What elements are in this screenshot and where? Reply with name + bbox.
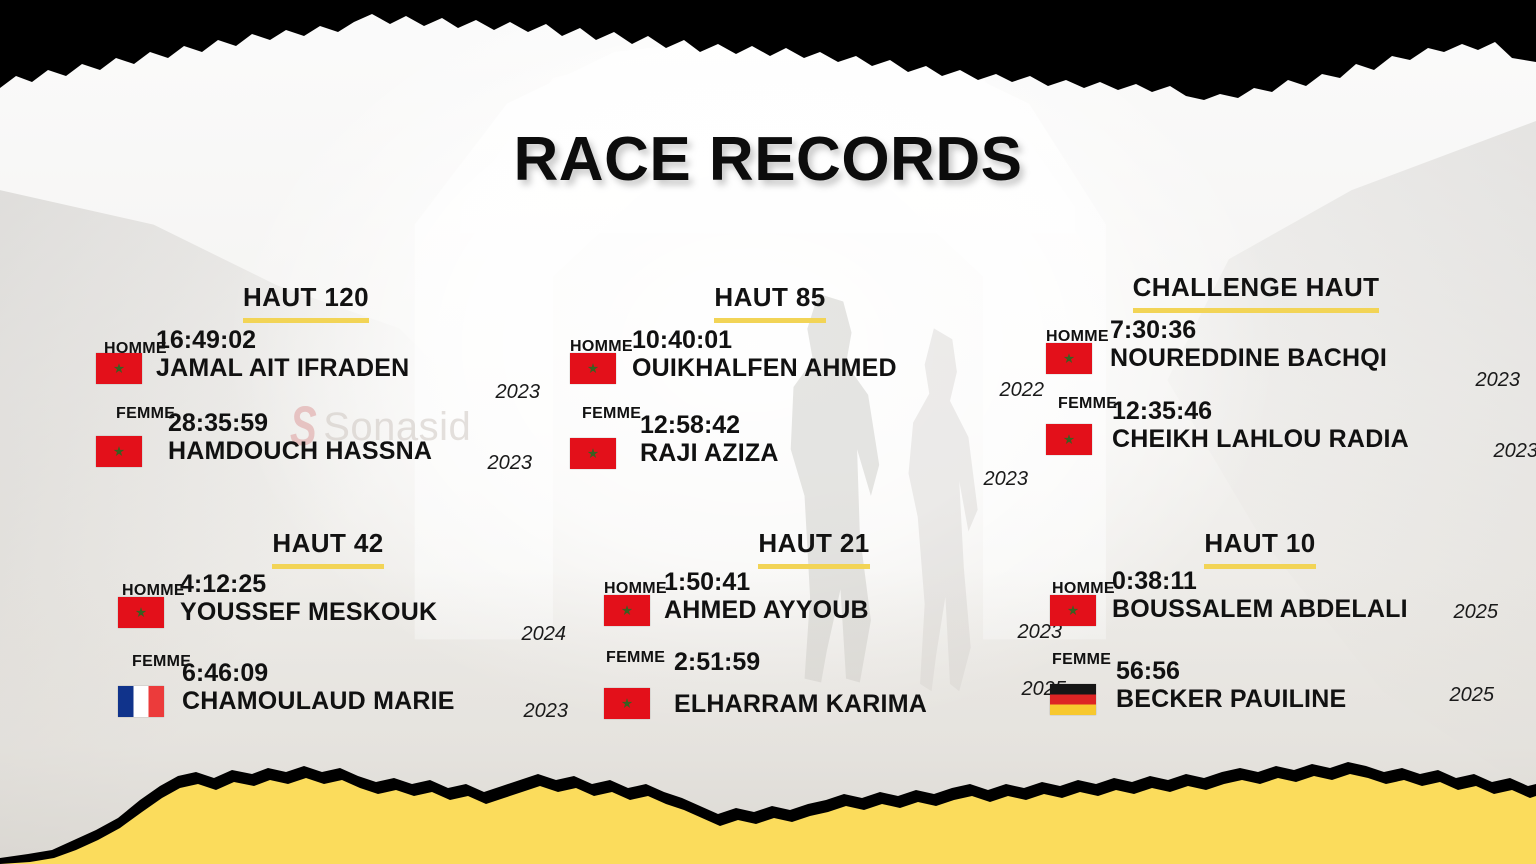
record-card-haut-85: HAUT 85 HOMME 10:40:01 OUIKHALFEN AHMED … [570,282,970,469]
record-row-men: HOMME 16:49:02 JAMAL AIT IFRADEN 2023 [96,341,516,384]
record-year: 2022 [1000,379,1045,402]
record-year: 2024 [522,623,567,646]
flag-icon-morocco [1046,424,1092,455]
flag-icon-morocco [118,597,164,628]
record-athlete: OUIKHALFEN AHMED [632,354,897,383]
flag-wrap [96,353,142,384]
record-year: 2023 [1476,369,1521,392]
flag-wrap [118,686,164,717]
record-text: 56:56 BECKER PAUILINE [1116,686,1346,714]
record-year: 2023 [1494,440,1536,463]
record-time: 7:30:36 [1110,317,1387,344]
flag-icon-germany [1050,684,1096,715]
race-records-poster: SSonasid RACE RECORDS HAUT 120 HOMME 16:… [0,0,1536,864]
record-entry: 6:46:09 CHAMOULAUD MARIE [118,686,538,717]
record-text: 6:46:09 CHAMOULAUD MARIE [182,688,455,716]
flag-wrap [96,436,142,467]
record-text: 1:50:41 AHMED AYYOUB [664,597,869,625]
category-title: HAUT 120 [243,282,369,323]
record-card-haut-120: HAUT 120 HOMME 16:49:02 JAMAL AIT IFRADE… [96,282,516,467]
category-title: HAUT 21 [758,528,869,569]
record-athlete: AHMED AYYOUB [664,596,869,625]
flag-icon-morocco [96,353,142,384]
record-time: 12:35:46 [1112,398,1409,425]
record-text: 12:58:42 RAJI AZIZA [640,440,779,468]
flag-wrap [1050,684,1096,715]
category-heading-wrap: HAUT 21 [604,528,1024,569]
record-row-men: HOMME 0:38:11 BOUSSALEM ABDELALI 2025 [1050,581,1470,626]
record-text: 2:51:59 ELHARRAM KARIMA [674,689,927,719]
bottom-mountain-edge [0,754,1536,864]
record-year: 2023 [496,381,541,404]
record-athlete: JAMAL AIT IFRADEN [156,354,409,383]
record-year: 2023 [524,700,569,723]
record-entry: 16:49:02 JAMAL AIT IFRADEN [96,353,516,384]
record-entry: 2:51:59 ELHARRAM KARIMA [604,688,1024,719]
record-text: 28:35:59 HAMDOUCH HASSNA [168,438,432,466]
flag-wrap [604,688,650,719]
record-entry: 28:35:59 HAMDOUCH HASSNA [96,436,516,467]
flag-wrap [1050,595,1096,626]
flag-icon-morocco [96,436,142,467]
record-time: 2:51:59 [674,649,927,676]
record-entry: 12:58:42 RAJI AZIZA [570,438,970,469]
record-athlete: CHAMOULAUD MARIE [182,687,455,716]
record-row-women: FEMME 56:56 BECKER PAUILINE 2025 [1050,652,1470,715]
record-athlete: HAMDOUCH HASSNA [168,437,432,466]
flag-icon-france [118,686,164,717]
record-athlete: YOUSSEF MESKOUK [180,598,437,627]
record-athlete: ELHARRAM KARIMA [674,690,927,719]
flag-wrap [570,438,616,469]
category-title: HAUT 10 [1204,528,1315,569]
flag-wrap [1046,343,1092,374]
category-heading-wrap: HAUT 120 [96,282,516,323]
record-card-challenge-haut: CHALLENGE HAUT HOMME 7:30:36 NOUREDDINE … [1046,272,1466,455]
flag-icon-morocco [570,438,616,469]
category-heading-wrap: CHALLENGE HAUT [1046,272,1466,313]
record-time: 28:35:59 [168,410,432,437]
category-heading-wrap: HAUT 85 [570,282,970,323]
record-entry: 12:35:46 CHEIKH LAHLOU RADIA [1046,424,1466,455]
category-heading-wrap: HAUT 10 [1050,528,1470,569]
category-title: HAUT 85 [714,282,825,323]
flag-icon-morocco [570,353,616,384]
record-entry: 10:40:01 OUIKHALFEN AHMED [570,353,970,384]
record-row-men: HOMME 10:40:01 OUIKHALFEN AHMED 2022 [570,339,970,384]
record-row-women: FEMME 2:51:59 ELHARRAM KARIMA 2025 [604,650,1024,719]
record-entry: 0:38:11 BOUSSALEM ABDELALI [1050,595,1470,626]
record-entry: 7:30:36 NOUREDDINE BACHQI [1046,343,1466,374]
record-row-men: HOMME 7:30:36 NOUREDDINE BACHQI 2023 [1046,329,1466,374]
record-card-haut-10: HAUT 10 HOMME 0:38:11 BOUSSALEM ABDELALI… [1050,528,1470,715]
record-text: 4:12:25 YOUSSEF MESKOUK [180,599,437,627]
record-athlete: NOUREDDINE BACHQI [1110,344,1387,373]
record-text: 10:40:01 OUIKHALFEN AHMED [632,355,897,383]
record-year: 2025 [1450,684,1495,707]
record-year: 2023 [488,452,533,475]
record-time: 12:58:42 [640,412,779,439]
record-athlete: CHEIKH LAHLOU RADIA [1112,425,1409,454]
record-time: 16:49:02 [156,327,409,354]
category-title: HAUT 42 [272,528,383,569]
flag-wrap [1046,424,1092,455]
record-athlete: BECKER PAUILINE [1116,685,1346,714]
record-text: 12:35:46 CHEIKH LAHLOU RADIA [1112,426,1409,454]
record-text: 7:30:36 NOUREDDINE BACHQI [1110,345,1387,373]
record-row-women: FEMME 6:46:09 CHAMOULAUD MARIE 2023 [118,654,538,717]
record-year: 2023 [984,468,1029,491]
record-time: 1:50:41 [664,569,869,596]
record-time: 0:38:11 [1112,568,1408,595]
record-time: 6:46:09 [182,660,455,687]
record-athlete: BOUSSALEM ABDELALI [1112,595,1408,624]
category-heading-wrap: HAUT 42 [118,528,538,569]
record-entry: 56:56 BECKER PAUILINE [1050,684,1470,715]
record-row-women: FEMME 12:58:42 RAJI AZIZA 2023 [570,406,970,469]
top-torn-edge [0,0,1536,112]
record-text: 16:49:02 JAMAL AIT IFRADEN [156,355,409,383]
record-time: 10:40:01 [632,327,897,354]
record-card-haut-42: HAUT 42 HOMME 4:12:25 YOUSSEF MESKOUK 20… [118,528,538,717]
flag-icon-morocco [604,688,650,719]
record-row-women: FEMME 12:35:46 CHEIKH LAHLOU RADIA 2023 [1046,396,1466,455]
record-time: 4:12:25 [180,571,437,598]
record-row-women: FEMME 28:35:59 HAMDOUCH HASSNA 2023 [96,406,516,467]
record-row-men: HOMME 4:12:25 YOUSSEF MESKOUK 2024 [118,583,538,628]
record-entry: 4:12:25 YOUSSEF MESKOUK [118,597,538,628]
flag-icon-morocco [1046,343,1092,374]
record-year: 2025 [1454,601,1499,624]
flag-wrap [570,353,616,384]
record-athlete: RAJI AZIZA [640,439,779,468]
record-time: 56:56 [1116,658,1346,685]
flag-wrap [118,597,164,628]
flag-wrap [604,595,650,626]
record-card-haut-21: HAUT 21 HOMME 1:50:41 AHMED AYYOUB 2023 … [604,528,1024,719]
record-text: 0:38:11 BOUSSALEM ABDELALI [1112,598,1408,624]
page-title: RACE RECORDS [0,124,1536,195]
record-entry: 1:50:41 AHMED AYYOUB [604,595,1024,626]
flag-icon-morocco [604,595,650,626]
flag-icon-morocco [1050,595,1096,626]
category-title: CHALLENGE HAUT [1133,272,1380,313]
record-row-men: HOMME 1:50:41 AHMED AYYOUB 2023 [604,581,1024,626]
